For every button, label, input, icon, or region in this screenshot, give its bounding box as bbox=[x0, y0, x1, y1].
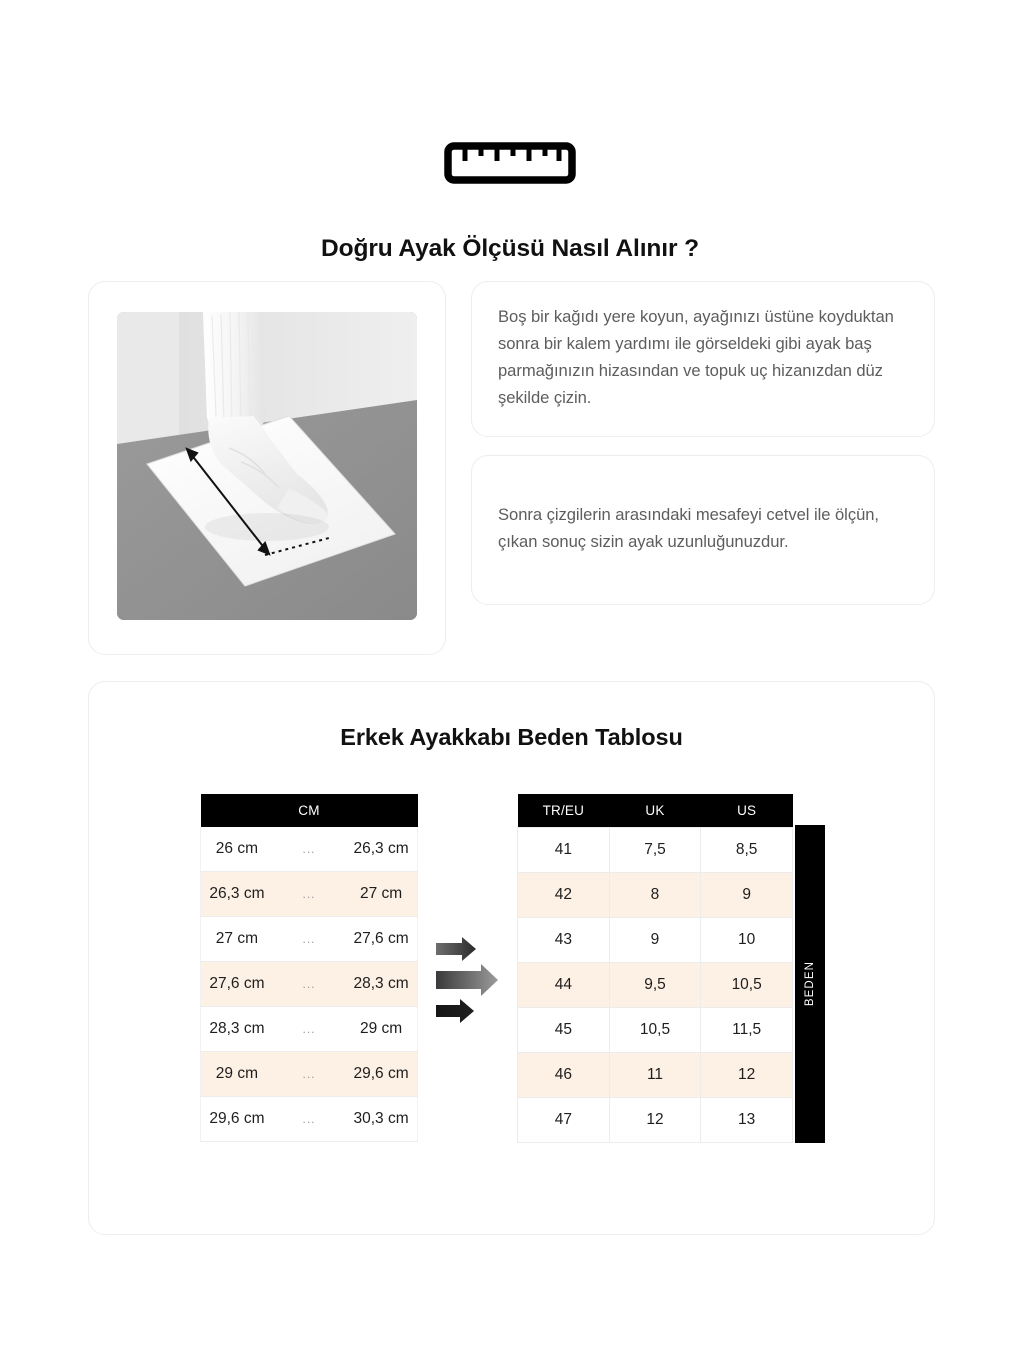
size-conversion-block: TR/EU UK US 41 7,5 8,5 42 8 9 bbox=[517, 794, 825, 1143]
table-row: 45 10,5 11,5 bbox=[518, 1008, 793, 1053]
cm-from: 29 cm bbox=[201, 1052, 273, 1097]
header-tr-eu: TR/EU bbox=[518, 794, 610, 828]
table-row: 47 12 13 bbox=[518, 1098, 793, 1143]
size-us: 8,5 bbox=[701, 828, 793, 873]
size-chart-tables: CM 26 cm ... 26,3 cm 26,3 cm ... 27 cm 2… bbox=[89, 794, 936, 1143]
cm-from: 29,6 cm bbox=[201, 1097, 273, 1142]
cm-to: 30,3 cm bbox=[345, 1097, 417, 1142]
instruction-card-1: Boş bir kağıdı yere koyun, ayağınızı üst… bbox=[471, 281, 935, 437]
size-uk: 11 bbox=[609, 1053, 701, 1098]
size-chart-title: Erkek Ayakkabı Beden Tablosu bbox=[89, 682, 934, 751]
cm-dots: ... bbox=[273, 1097, 345, 1142]
size-table-header-row: TR/EU UK US bbox=[518, 794, 793, 828]
beden-label-text: BEDEN bbox=[804, 961, 816, 1006]
table-row: 26,3 cm ... 27 cm bbox=[201, 872, 418, 917]
cm-to: 29 cm bbox=[345, 1007, 417, 1052]
size-eu: 41 bbox=[518, 828, 610, 873]
conversion-arrows bbox=[418, 909, 517, 1028]
size-eu: 42 bbox=[518, 873, 610, 918]
size-us: 12 bbox=[701, 1053, 793, 1098]
size-uk: 9,5 bbox=[609, 963, 701, 1008]
cm-to: 27 cm bbox=[345, 872, 417, 917]
header-us: US bbox=[701, 794, 793, 828]
instruction-photo-card bbox=[88, 281, 446, 655]
size-uk: 7,5 bbox=[609, 828, 701, 873]
cm-from: 27 cm bbox=[201, 917, 273, 962]
table-row: 26 cm ... 26,3 cm bbox=[201, 827, 418, 872]
size-uk: 10,5 bbox=[609, 1008, 701, 1053]
table-row: 42 8 9 bbox=[518, 873, 793, 918]
header-uk: UK bbox=[609, 794, 701, 828]
cm-dots: ... bbox=[273, 917, 345, 962]
size-eu: 43 bbox=[518, 918, 610, 963]
table-row: 46 11 12 bbox=[518, 1053, 793, 1098]
page-title: Doğru Ayak Ölçüsü Nasıl Alınır ? bbox=[0, 235, 1020, 263]
size-uk: 9 bbox=[609, 918, 701, 963]
size-uk: 8 bbox=[609, 873, 701, 918]
ruler-icon bbox=[444, 142, 576, 184]
cm-table-header-row: CM bbox=[201, 794, 418, 827]
table-row: 44 9,5 10,5 bbox=[518, 963, 793, 1008]
size-us: 10 bbox=[701, 918, 793, 963]
cm-from: 26,3 cm bbox=[201, 872, 273, 917]
cm-dots: ... bbox=[273, 872, 345, 917]
arrows-icon bbox=[436, 937, 500, 1028]
size-us: 11,5 bbox=[701, 1008, 793, 1053]
cm-dots: ... bbox=[273, 1052, 345, 1097]
table-row: 27,6 cm ... 28,3 cm bbox=[201, 962, 418, 1007]
size-chart-card: Erkek Ayakkabı Beden Tablosu CM 26 cm ..… bbox=[88, 681, 935, 1235]
size-eu: 46 bbox=[518, 1053, 610, 1098]
size-us: 9 bbox=[701, 873, 793, 918]
cm-to: 27,6 cm bbox=[345, 917, 417, 962]
instruction-text-2: Sonra çizgilerin arasındaki mesafeyi cet… bbox=[498, 502, 908, 556]
cm-to: 26,3 cm bbox=[345, 827, 417, 872]
table-row: 41 7,5 8,5 bbox=[518, 828, 793, 873]
instructions-section: Boş bir kağıdı yere koyun, ayağınızı üst… bbox=[88, 281, 935, 655]
size-eu: 47 bbox=[518, 1098, 610, 1143]
cm-dots: ... bbox=[273, 827, 345, 872]
size-us: 10,5 bbox=[701, 963, 793, 1008]
instruction-card-2: Sonra çizgilerin arasındaki mesafeyi cet… bbox=[471, 455, 935, 605]
table-row: 27 cm ... 27,6 cm bbox=[201, 917, 418, 962]
size-uk: 12 bbox=[609, 1098, 701, 1143]
cm-from: 26 cm bbox=[201, 827, 273, 872]
beden-side-label: BEDEN bbox=[795, 825, 825, 1143]
cm-from: 28,3 cm bbox=[201, 1007, 273, 1052]
size-conversion-table: TR/EU UK US 41 7,5 8,5 42 8 9 bbox=[517, 794, 793, 1143]
size-eu: 44 bbox=[518, 963, 610, 1008]
table-row: 29,6 cm ... 30,3 cm bbox=[201, 1097, 418, 1142]
size-eu: 45 bbox=[518, 1008, 610, 1053]
cm-to: 28,3 cm bbox=[345, 962, 417, 1007]
table-row: 29 cm ... 29,6 cm bbox=[201, 1052, 418, 1097]
table-row: 43 9 10 bbox=[518, 918, 793, 963]
cm-dots: ... bbox=[273, 1007, 345, 1052]
cm-header-cell: CM bbox=[201, 794, 418, 827]
table-row: 28,3 cm ... 29 cm bbox=[201, 1007, 418, 1052]
header-icon-row bbox=[0, 142, 1020, 184]
instruction-text-column: Boş bir kağıdı yere koyun, ayağınızı üst… bbox=[471, 281, 935, 605]
size-us: 13 bbox=[701, 1098, 793, 1143]
cm-to: 29,6 cm bbox=[345, 1052, 417, 1097]
instruction-text-1: Boş bir kağıdı yere koyun, ayağınızı üst… bbox=[498, 304, 908, 412]
cm-dots: ... bbox=[273, 962, 345, 1007]
cm-measurement-table: CM 26 cm ... 26,3 cm 26,3 cm ... 27 cm 2… bbox=[200, 794, 418, 1142]
cm-from: 27,6 cm bbox=[201, 962, 273, 1007]
foot-measurement-photo bbox=[117, 312, 417, 620]
